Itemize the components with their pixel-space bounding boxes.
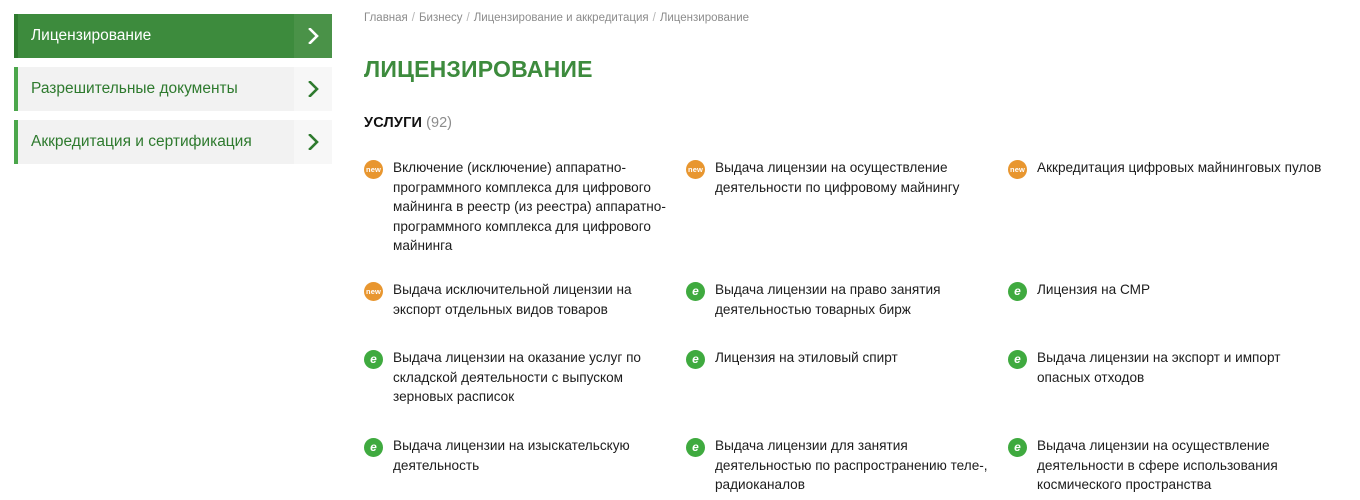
service-item[interactable]: eВыдача лицензии на экспорт и импорт опа… [1008, 348, 1328, 436]
sidebar-item-label: Аккредитация и сертификация [14, 132, 294, 152]
service-item[interactable]: newАккредитация цифровых майнинговых пул… [1008, 158, 1328, 280]
new-badge-icon: new [364, 282, 383, 301]
sidebar-item-accent-bar [14, 120, 18, 164]
eservice-badge-icon: e [686, 438, 705, 457]
service-item-label: Выдача лицензии на изыскательскую деятел… [393, 436, 668, 475]
service-item-label: Выдача лицензии на оказание услуг по скл… [393, 348, 668, 407]
section-count: (92) [422, 115, 452, 131]
service-item[interactable]: eВыдача лицензии на оказание услуг по ск… [364, 348, 668, 436]
sidebar-item-accent-bar [14, 14, 18, 58]
service-item-label: Выдача лицензии на экспорт и импорт опас… [1037, 348, 1328, 387]
eservice-badge-icon: e [364, 350, 383, 369]
service-item[interactable]: newВыдача лицензии на осуществление деят… [686, 158, 990, 280]
sidebar-item-accent-bar [14, 67, 18, 111]
service-item-label: Лицензия на СМР [1037, 280, 1328, 300]
breadcrumb: Главная/Бизнесу/Лицензирование и аккреди… [364, 10, 749, 26]
new-badge-icon: new [364, 160, 383, 179]
chevron-right-icon[interactable] [294, 67, 332, 111]
service-item-label: Выдача исключительной лицензии на экспор… [393, 280, 668, 319]
service-item-label: Лицензия на этиловый спирт [715, 348, 990, 368]
service-item[interactable]: eВыдача лицензии на осуществление деятел… [1008, 436, 1328, 495]
sidebar-item-2[interactable]: Разрешительные документы [14, 67, 332, 111]
breadcrumb-separator: / [408, 12, 419, 24]
chevron-right-icon[interactable] [294, 14, 332, 58]
breadcrumb-separator: / [649, 12, 660, 24]
breadcrumb-item-2[interactable]: Бизнесу [419, 12, 463, 24]
eservice-badge-icon: e [1008, 438, 1027, 457]
service-item-label: Выдача лицензии на право занятия деятель… [715, 280, 990, 319]
chevron-right-icon[interactable] [294, 120, 332, 164]
services-grid: newВключение (исключение) аппаратно-прог… [364, 158, 1360, 495]
service-item[interactable]: eВыдача лицензии на право занятия деятел… [686, 280, 990, 348]
new-badge-icon: new [1008, 160, 1027, 179]
eservice-badge-icon: e [686, 350, 705, 369]
section-title: УСЛУГИ [364, 115, 422, 131]
breadcrumb-item-1[interactable]: Главная [364, 12, 408, 24]
service-item[interactable]: eВыдача лицензии на изыскательскую деяте… [364, 436, 668, 495]
sidebar-item-1[interactable]: Лицензирование [14, 14, 332, 58]
eservice-badge-icon: e [364, 438, 383, 457]
new-badge-icon: new [686, 160, 705, 179]
breadcrumb-separator: / [462, 12, 473, 24]
page-root: ЛицензированиеРазрешительные документыАк… [0, 0, 1360, 500]
service-item-label: Выдача лицензии для занятия деятельность… [715, 436, 990, 495]
service-item[interactable]: newВыдача исключительной лицензии на экс… [364, 280, 668, 348]
main-content: Главная/Бизнесу/Лицензирование и аккреди… [364, 0, 1360, 500]
sidebar-item-label: Лицензирование [14, 26, 294, 46]
breadcrumb-item-3[interactable]: Лицензирование и аккредитация [474, 12, 649, 24]
breadcrumb-item-4: Лицензирование [660, 12, 749, 24]
sidebar-item-3[interactable]: Аккредитация и сертификация [14, 120, 332, 164]
eservice-badge-icon: e [1008, 282, 1027, 301]
sidebar-item-label: Разрешительные документы [14, 79, 294, 99]
service-item[interactable]: newВключение (исключение) аппаратно-прог… [364, 158, 668, 280]
service-item-label: Выдача лицензии на осуществление деятель… [715, 158, 990, 197]
service-item-label: Включение (исключение) аппаратно-програм… [393, 158, 668, 256]
eservice-badge-icon: e [686, 282, 705, 301]
service-item[interactable]: eЛицензия на этиловый спирт [686, 348, 990, 436]
service-item-label: Выдача лицензии на осуществление деятель… [1037, 436, 1328, 495]
service-item-label: Аккредитация цифровых майнинговых пулов [1037, 158, 1328, 178]
service-item[interactable]: eЛицензия на СМР [1008, 280, 1328, 348]
page-title: ЛИЦЕНЗИРОВАНИЕ [364, 55, 593, 83]
sidebar-nav: ЛицензированиеРазрешительные документыАк… [14, 14, 332, 173]
services-section-header: УСЛУГИ(92) [364, 113, 452, 133]
eservice-badge-icon: e [1008, 350, 1027, 369]
service-item[interactable]: eВыдача лицензии для занятия деятельност… [686, 436, 990, 495]
